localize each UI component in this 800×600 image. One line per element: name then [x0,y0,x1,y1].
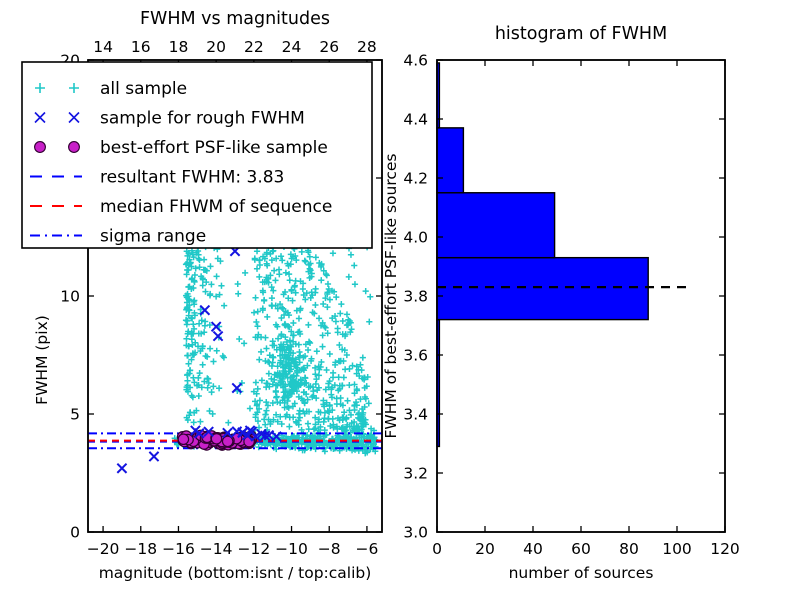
right-xtick-label: 80 [619,540,639,558]
left-top-tick-label: 24 [282,38,302,56]
left-top-tick-label: 20 [206,38,226,56]
left-panel-title: FWHM vs magnitudes [140,9,330,29]
left-xtick-label: −6 [355,540,378,558]
histogram-bar [437,258,648,320]
right-y-tick-labels: 3.03.23.43.63.84.04.24.44.6 [403,52,428,542]
right-xtick-label: 0 [432,540,442,558]
left-ytick-label: 10 [60,288,80,306]
left-xtick-label: −8 [318,540,341,558]
right-xtick-label: 60 [571,540,591,558]
right-ytick-label: 4.0 [403,229,428,247]
left-top-tick-label: 28 [357,38,377,56]
histogram-bar [437,128,463,193]
left-xtick-label: −10 [275,540,308,558]
left-top-tick-label: 14 [93,38,113,56]
left-xtick-label: −14 [200,540,233,558]
left-top-tick-label: 18 [169,38,189,56]
left-panel-ylabel: FWHM (pix) [33,315,51,405]
right-ytick-label: 4.6 [403,52,428,70]
right-ytick-label: 3.2 [403,465,428,483]
left-top-tick-label: 22 [244,38,264,56]
right-ytick-label: 4.2 [403,170,428,188]
legend-item-label: sample for rough FWHM [100,109,305,129]
left-xtick-label: −18 [124,540,157,558]
right-panel-xlabel: number of sources [509,564,654,582]
right-ytick-label: 3.6 [403,347,428,365]
right-panel-ylabel: FWHM of best-effort PSF-like sources [382,153,400,438]
right-xtick-label: 100 [662,540,692,558]
psf-sample-point [178,434,188,444]
filled-circle-icon [69,142,80,153]
left-xtick-label: −20 [87,540,120,558]
left-ytick-label: 0 [70,524,80,542]
histogram-bar [437,193,555,258]
right-xtick-label: 20 [475,540,495,558]
left-panel-xlabel: magnitude (bottom:isnt / top:calib) [99,564,372,582]
right-ytick-label: 3.4 [403,406,428,424]
right-ytick-label: 4.4 [403,111,428,129]
right-xtick-label: 40 [523,540,543,558]
legend-item-label: resultant FWHM: 3.83 [100,168,284,188]
right-panel-title: histogram of FWHM [495,24,667,44]
left-ytick-label: 5 [70,406,80,424]
left-xtick-label: −16 [162,540,195,558]
legend-item-label: all sample [100,79,187,99]
right-xtick-label: 120 [710,540,740,558]
legend-item-label: best-effort PSF-like sample [100,138,328,158]
left-panel-legend[interactable]: all samplesample for rough FWHMbest-effo… [22,62,372,248]
left-xtick-label: −12 [237,540,270,558]
filled-circle-icon [35,142,46,153]
figure-canvas: −20−18−16−14−12−10−8−6 1416182022242628 … [0,0,800,600]
legend-item-label: sigma range [100,227,206,247]
right-ytick-label: 3.0 [403,524,428,542]
legend-item-label: median FHWM of sequence [100,197,332,217]
right-ytick-label: 3.8 [403,288,428,306]
left-top-tick-label: 16 [131,38,151,56]
left-top-tick-label: 26 [319,38,339,56]
